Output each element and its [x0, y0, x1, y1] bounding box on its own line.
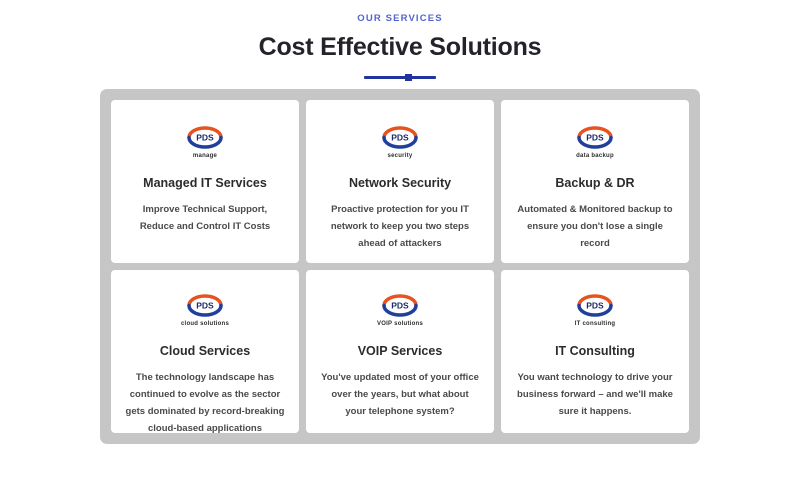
- card-logo-tagline: VOIP solutions: [377, 320, 423, 328]
- svg-text:PDS: PDS: [586, 133, 604, 143]
- card-logo: PDS data backup: [574, 124, 616, 160]
- service-card-network-security[interactable]: PDS security Network Security Proactive …: [306, 100, 494, 263]
- service-card-it-consulting[interactable]: PDS IT consulting IT Consulting You want…: [501, 270, 689, 433]
- pds-logo-icon: PDS: [379, 292, 421, 319]
- section-header: OUR SERVICES Cost Effective Solutions: [0, 0, 800, 83]
- card-logo-tagline: manage: [193, 152, 217, 160]
- svg-text:PDS: PDS: [391, 133, 409, 143]
- svg-text:PDS: PDS: [196, 301, 214, 311]
- card-description: Improve Technical Support, Reduce and Co…: [125, 201, 285, 235]
- card-title: Managed IT Services: [143, 175, 267, 191]
- card-description: The technology landscape has continued t…: [125, 369, 285, 433]
- pds-logo-icon: PDS: [574, 292, 616, 319]
- card-title: IT Consulting: [555, 343, 635, 359]
- card-description: You've updated most of your office over …: [320, 369, 480, 420]
- card-logo-tagline: cloud solutions: [181, 320, 229, 328]
- services-section-page: OUR SERVICES Cost Effective Solutions PD…: [0, 0, 800, 480]
- pds-logo-icon: PDS: [574, 124, 616, 151]
- pds-logo-icon: PDS: [379, 124, 421, 151]
- card-title: Cloud Services: [160, 343, 250, 359]
- service-card-backup-and-dr[interactable]: PDS data backup Backup & DR Automated & …: [501, 100, 689, 263]
- services-grid-container: PDS manage Managed IT Services Improve T…: [100, 89, 700, 444]
- card-title: VOIP Services: [358, 343, 443, 359]
- card-logo-tagline: security: [387, 152, 412, 160]
- card-title: Backup & DR: [555, 175, 634, 191]
- svg-text:PDS: PDS: [196, 133, 214, 143]
- service-card-managed-it-services[interactable]: PDS manage Managed IT Services Improve T…: [111, 100, 299, 263]
- divider-line: [364, 76, 436, 79]
- card-title: Network Security: [349, 175, 451, 191]
- card-description: Automated & Monitored backup to ensure y…: [515, 201, 675, 252]
- card-description: Proactive protection for you IT network …: [320, 201, 480, 252]
- card-logo: PDS manage: [184, 124, 226, 160]
- pds-logo-icon: PDS: [184, 292, 226, 319]
- divider-dot-icon: [405, 74, 412, 81]
- card-logo: PDS cloud solutions: [181, 292, 229, 328]
- services-grid: PDS manage Managed IT Services Improve T…: [111, 100, 689, 433]
- card-logo: PDS VOIP solutions: [377, 292, 423, 328]
- svg-text:PDS: PDS: [391, 301, 409, 311]
- svg-text:PDS: PDS: [586, 301, 604, 311]
- card-logo-tagline: data backup: [576, 152, 614, 160]
- section-eyebrow: OUR SERVICES: [0, 12, 800, 25]
- card-logo-tagline: IT consulting: [575, 320, 616, 328]
- heading-divider: [364, 71, 436, 83]
- card-logo: PDS security: [379, 124, 421, 160]
- service-card-cloud-services[interactable]: PDS cloud solutions Cloud Services The t…: [111, 270, 299, 433]
- pds-logo-icon: PDS: [184, 124, 226, 151]
- service-card-voip-services[interactable]: PDS VOIP solutions VOIP Services You've …: [306, 270, 494, 433]
- card-logo: PDS IT consulting: [574, 292, 616, 328]
- card-description: You want technology to drive your busine…: [515, 369, 675, 420]
- section-headline: Cost Effective Solutions: [0, 32, 800, 62]
